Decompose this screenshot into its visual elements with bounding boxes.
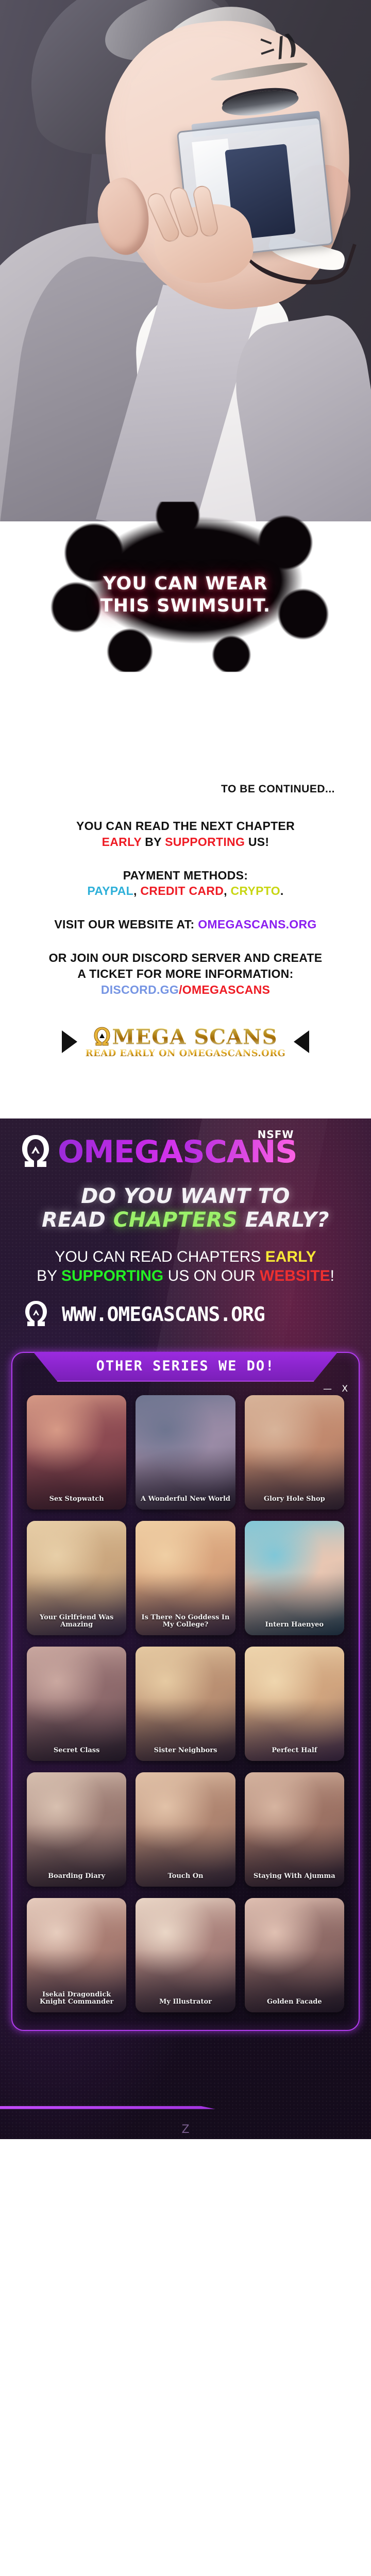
payment-separator-2: , <box>224 884 230 897</box>
sub-read-chapters: YOU CAN READ CHAPTERS <box>55 1248 265 1265</box>
triangle-right-icon <box>62 1030 77 1053</box>
promo-sub-line-2: BY SUPPORTING US ON OUR WEBSITE! <box>0 1266 371 1285</box>
series-grid: Sex StopwatchA Wonderful New WorldGlory … <box>12 1382 359 2012</box>
promo-content: OMEGASCANS NSFW DO YOU WANT TO READ CHAP… <box>0 1118 371 2139</box>
footer-lightning-divider <box>0 2106 371 2109</box>
promo-url-row[interactable]: WWW.OMEGASCANS.ORG <box>0 1286 371 1329</box>
series-title-label: Sister Neighbors <box>136 1747 235 1755</box>
series-card[interactable]: Golden Facade <box>245 1898 344 2012</box>
series-card[interactable]: A Wonderful New World <box>136 1395 235 1510</box>
series-cover-shade <box>245 1521 344 1635</box>
sub-by: BY <box>37 1267 61 1284</box>
speech-line-1: YOU CAN WEAR <box>0 573 371 595</box>
series-title-label: Is There No Goddess In My College? <box>136 1614 235 1629</box>
series-card[interactable]: My Illustrator <box>136 1898 235 2012</box>
read-next-line-2: EARLY BY SUPPORTING US! <box>0 834 371 850</box>
footer-glyph: Z <box>0 2123 371 2136</box>
window-controls[interactable]: — X <box>323 1384 351 1394</box>
series-cover-shade <box>245 1647 344 1761</box>
series-title-label: Secret Class <box>27 1747 126 1755</box>
omega-logo-icon <box>23 1299 49 1329</box>
series-card[interactable]: Isekai Dragondick Knight Commander <box>27 1898 126 2012</box>
promo-website-url[interactable]: WWW.OMEGASCANS.ORG <box>62 1303 265 1326</box>
series-title-label: Isekai Dragondick Knight Commander <box>27 1991 126 2006</box>
series-cover-shade <box>27 1395 126 1510</box>
series-card[interactable]: Touch On <box>136 1772 235 1887</box>
promo-brand-wordmark: OMEGASCANS NSFW <box>58 1137 297 1167</box>
spacer <box>0 850 371 868</box>
headline-early: EARLY? <box>238 1208 329 1232</box>
speech-text: YOU CAN WEAR THIS SWIMSUIT. <box>0 573 371 617</box>
series-card[interactable]: Sister Neighbors <box>136 1647 235 1761</box>
omega-logo-icon <box>19 1133 53 1171</box>
omega-logo-icon <box>93 1026 111 1047</box>
series-card[interactable]: Your Girlfriend Was Amazing <box>27 1521 126 1635</box>
promo-sub-line-1: YOU CAN READ CHAPTERS EARLY <box>0 1247 371 1266</box>
early-highlight: EARLY <box>102 835 142 849</box>
promo-brand-header: OMEGASCANS NSFW <box>0 1130 371 1171</box>
promo-subheadline: YOU CAN READ CHAPTERS EARLY BY SUPPORTIN… <box>0 1247 371 1285</box>
series-title-label: A Wonderful New World <box>136 1496 235 1503</box>
payment-methods-list: PAYPAL, CREDIT CARD, CRYPTO. <box>0 883 371 899</box>
series-title-label: My Illustrator <box>136 1998 235 2006</box>
visit-label: VISIT OUR WEBSITE AT: <box>54 918 198 931</box>
speech-line-2: THIS SWIMSUIT. <box>0 595 371 617</box>
series-card[interactable]: Is There No Goddess In My College? <box>136 1521 235 1635</box>
series-card[interactable]: Staying With Ajumma <box>245 1772 344 1887</box>
spacer <box>0 933 371 950</box>
promo-footer: Z <box>0 2031 371 2139</box>
series-cover-shade <box>136 1898 235 2012</box>
other-series-title-bar: OTHER SERIES WE DO! <box>33 1352 338 1382</box>
series-cover-shade <box>27 1647 126 1761</box>
visit-website-line: VISIT OUR WEBSITE AT: OMEGASCANS.ORG <box>0 917 371 933</box>
credits-section: TO BE CONTINUED... YOU CAN READ THE NEXT… <box>0 783 371 1118</box>
website-url-link[interactable]: OMEGASCANS.ORG <box>198 918 316 931</box>
other-series-title: OTHER SERIES WE DO! <box>96 1358 275 1374</box>
series-cover-shade <box>245 1395 344 1510</box>
gold-logo-subtitle: READ EARLY ON OMEGASCANS.ORG <box>86 1048 285 1059</box>
series-card[interactable]: Intern Haenyeo <box>245 1521 344 1635</box>
speech-splash-section: YOU CAN WEAR THIS SWIMSUIT. <box>0 526 371 696</box>
series-title-label: Your Girlfriend Was Amazing <box>27 1614 126 1629</box>
series-title-label: Golden Facade <box>245 1998 344 2006</box>
series-title-label: Intern Haenyeo <box>245 1621 344 1629</box>
series-title-label: Staying With Ajumma <box>245 1873 344 1880</box>
read-next-line-1: YOU CAN READ THE NEXT CHAPTER <box>0 818 371 834</box>
headline-chapters: CHAPTERS <box>113 1208 238 1232</box>
promo-headline: DO YOU WANT TO READ CHAPTERS EARLY? <box>0 1184 371 1232</box>
series-card[interactable]: Perfect Half <box>245 1647 344 1761</box>
payment-period: . <box>280 884 284 897</box>
gold-logo-row: MEGA SCANS READ EARLY ON OMEGASCANS.ORG <box>0 1025 371 1059</box>
promo-banner: OMEGASCANS NSFW DO YOU WANT TO READ CHAP… <box>0 1118 371 2139</box>
payment-credit-card: CREDIT CARD <box>140 884 224 897</box>
sub-exclaim: ! <box>330 1267 334 1284</box>
discord-line-1: OR JOIN OUR DISCORD SERVER AND CREATE <box>0 950 371 966</box>
discord-path: /OMEGASCANS <box>179 983 270 996</box>
us-text: US! <box>245 835 269 849</box>
headline-read: READ <box>42 1208 113 1232</box>
by-text: BY <box>142 835 165 849</box>
spacer <box>0 795 371 818</box>
series-title-label: Perfect Half <box>245 1747 344 1755</box>
series-title-label: Touch On <box>136 1873 235 1880</box>
series-cover-shade <box>27 1772 126 1887</box>
sub-mid: US ON OUR <box>163 1267 260 1284</box>
triangle-left-icon <box>294 1030 309 1053</box>
sub-website-highlight: WEBSITE <box>260 1267 330 1284</box>
gold-logo-wordmark: MEGA SCANS <box>112 1025 277 1049</box>
discord-line-2: A TICKET FOR MORE INFORMATION: <box>0 966 371 982</box>
series-card[interactable]: Glory Hole Shop <box>245 1395 344 1510</box>
sub-supporting-highlight: SUPPORTING <box>61 1267 163 1284</box>
series-title-label: Boarding Diary <box>27 1873 126 1880</box>
series-cover-shade <box>245 1772 344 1887</box>
series-cover-shade <box>136 1772 235 1887</box>
brand-omega-text: OMEGA <box>58 1134 182 1170</box>
series-title-label: Sex Stopwatch <box>27 1496 126 1503</box>
discord-host: DISCORD.GG <box>101 983 179 996</box>
sub-early-highlight: EARLY <box>265 1248 316 1265</box>
promo-headline-line-2: READ CHAPTERS EARLY? <box>0 1208 371 1232</box>
series-cover-shade <box>245 1898 344 2012</box>
payment-separator-1: , <box>133 884 140 897</box>
discord-invite-link[interactable]: DISCORD.GG/OMEGASCANS <box>0 982 371 998</box>
promo-headline-line-1: DO YOU WANT TO <box>0 1184 371 1208</box>
comic-panel: /) <box>0 0 371 526</box>
spacer <box>0 1082 371 1113</box>
payment-methods-heading: PAYMENT METHODS: <box>0 868 371 884</box>
spacer <box>0 899 371 917</box>
series-title-label: Glory Hole Shop <box>245 1496 344 1503</box>
gold-logo-title: MEGA SCANS <box>93 1025 277 1049</box>
series-card[interactable]: Sex Stopwatch <box>27 1395 126 1510</box>
series-cover-shade <box>136 1395 235 1510</box>
supporting-highlight: SUPPORTING <box>165 835 245 849</box>
to-be-continued-text: TO BE CONTINUED... <box>0 783 371 795</box>
series-cover-shade <box>136 1647 235 1761</box>
nsfw-badge: NSFW <box>258 1129 294 1140</box>
gold-logo-text: MEGA SCANS READ EARLY ON OMEGASCANS.ORG <box>86 1025 285 1059</box>
payment-crypto: CRYPTO <box>231 884 280 897</box>
other-series-panel: OTHER SERIES WE DO! — X Sex StopwatchA W… <box>11 1352 360 2031</box>
series-card[interactable]: Boarding Diary <box>27 1772 126 1887</box>
omega-scans-gold-logo: MEGA SCANS READ EARLY ON OMEGASCANS.ORG <box>0 1025 371 1082</box>
series-card[interactable]: Secret Class <box>27 1647 126 1761</box>
webtoon-page: /) YOU CAN WEAR THIS SWIMSUIT. TO BE CON… <box>0 0 371 2139</box>
payment-paypal: PAYPAL <box>87 884 133 897</box>
